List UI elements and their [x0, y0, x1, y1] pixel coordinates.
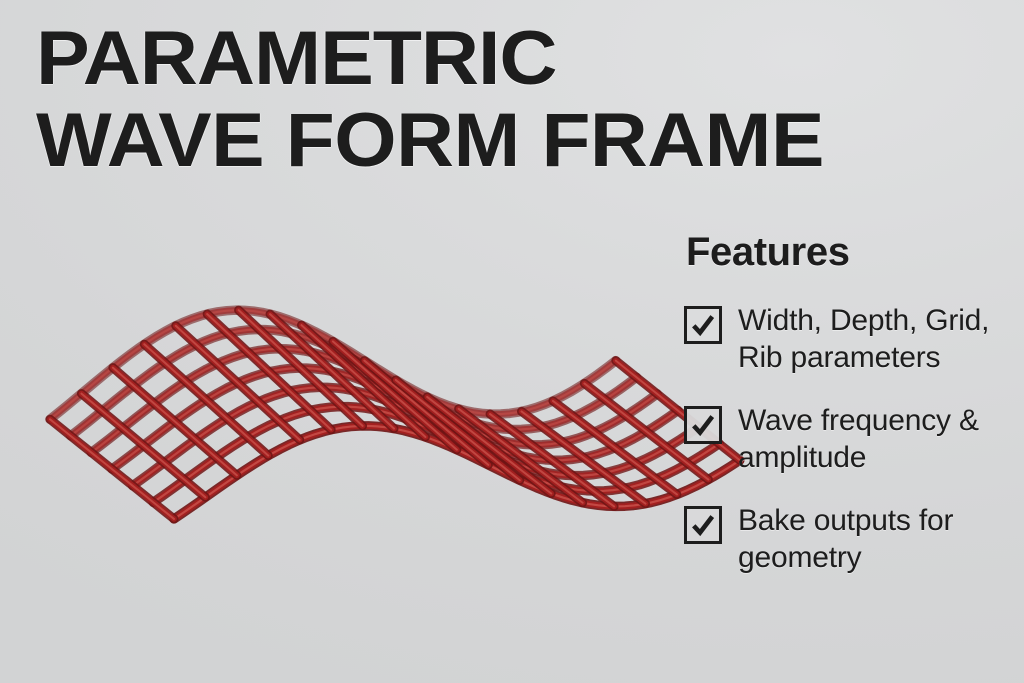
feature-item-2[interactable]: Wave frequency & amplitude — [684, 402, 1024, 476]
checkmark-icon — [687, 309, 719, 341]
checked-checkbox-icon[interactable] — [684, 406, 722, 444]
page-title: PARAMETRIC WAVE FORM FRAME — [36, 18, 996, 182]
feature-label-2: Wave frequency & amplitude — [738, 402, 1024, 476]
feature-item-1[interactable]: Width, Depth, Grid, Rib parameters — [684, 302, 1024, 376]
feature-label-1: Width, Depth, Grid, Rib parameters — [738, 302, 1024, 376]
parametric-wave-grid-render — [40, 225, 770, 545]
title-line-2: WAVE FORM FRAME — [36, 100, 1024, 182]
feature-label-3: Bake outputs for geometry — [738, 502, 1024, 576]
features-heading: Features — [686, 230, 1024, 274]
poster-canvas: PARAMETRIC WAVE FORM FRAME Features — [0, 0, 1024, 683]
features-panel: Features Width, Depth, Grid, Rib paramet… — [684, 230, 1024, 602]
feature-item-3[interactable]: Bake outputs for geometry — [684, 502, 1024, 576]
checkmark-icon — [687, 509, 719, 541]
checked-checkbox-icon[interactable] — [684, 306, 722, 344]
wave-grid-svg — [40, 225, 770, 545]
title-line-1: PARAMETRIC — [36, 18, 1024, 100]
checkmark-icon — [687, 409, 719, 441]
checked-checkbox-icon[interactable] — [684, 506, 722, 544]
